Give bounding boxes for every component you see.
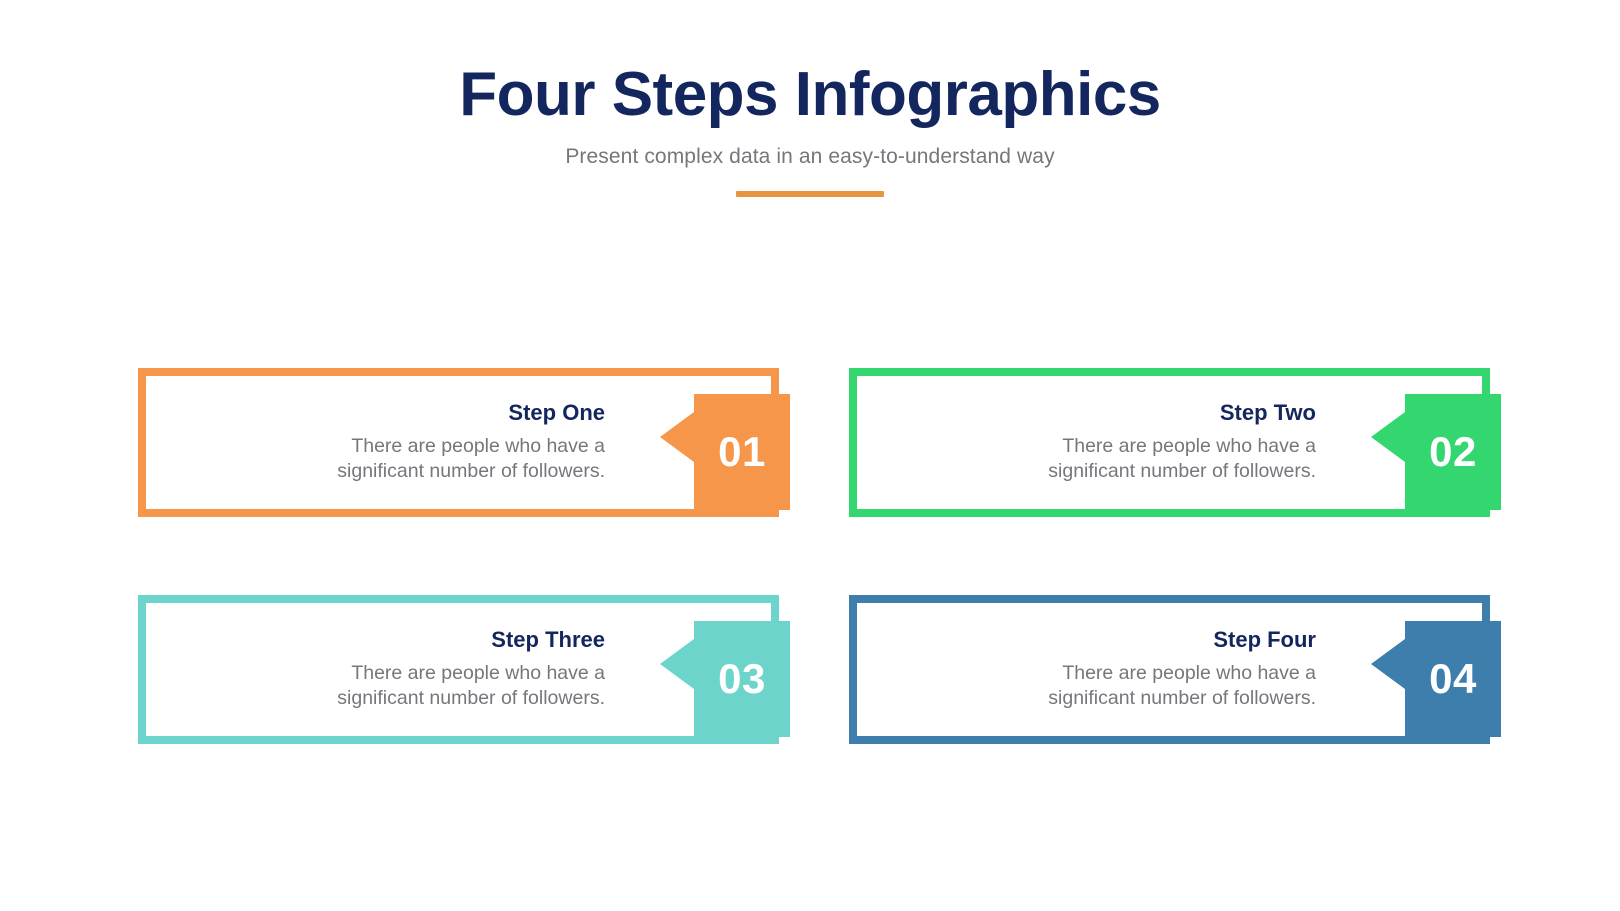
steps-row-bottom: Step Three There are people who have a s… bbox=[138, 595, 1490, 744]
step-card-1-number: 01 bbox=[718, 431, 766, 473]
steps-grid: Step One There are people who have a sig… bbox=[138, 368, 1490, 744]
step-card-3-text: Step Three There are people who have a s… bbox=[146, 603, 623, 736]
step-card-4-badge: 04 bbox=[1405, 621, 1501, 737]
divider-wrapper bbox=[0, 191, 1620, 197]
step-card-1-title: Step One bbox=[508, 400, 605, 426]
step-card-4-title: Step Four bbox=[1213, 627, 1316, 653]
title-divider bbox=[736, 191, 884, 197]
step-card-1-badge: 01 bbox=[694, 394, 790, 510]
step-card-2-number: 02 bbox=[1429, 431, 1477, 473]
step-card-1[interactable]: Step One There are people who have a sig… bbox=[138, 368, 779, 517]
step-card-4[interactable]: Step Four There are people who have a si… bbox=[849, 595, 1490, 744]
header: Four Steps Infographics Present complex … bbox=[0, 62, 1620, 197]
page-title: Four Steps Infographics bbox=[0, 62, 1620, 127]
step-card-2-badge: 02 bbox=[1405, 394, 1501, 510]
step-card-3-number: 03 bbox=[718, 658, 766, 700]
page-subtitle: Present complex data in an easy-to-under… bbox=[0, 145, 1620, 169]
step-card-2[interactable]: Step Two There are people who have a sig… bbox=[849, 368, 1490, 517]
steps-row-top: Step One There are people who have a sig… bbox=[138, 368, 1490, 517]
step-card-1-text: Step One There are people who have a sig… bbox=[146, 376, 623, 509]
step-card-4-number: 04 bbox=[1429, 658, 1477, 700]
step-card-1-description: There are people who have a significant … bbox=[260, 434, 605, 485]
step-card-4-description: There are people who have a significant … bbox=[971, 661, 1316, 712]
badge-arrow-icon bbox=[660, 412, 694, 462]
step-card-3-description: There are people who have a significant … bbox=[260, 661, 605, 712]
step-card-3[interactable]: Step Three There are people who have a s… bbox=[138, 595, 779, 744]
badge-arrow-icon bbox=[1371, 412, 1405, 462]
step-card-3-badge: 03 bbox=[694, 621, 790, 737]
step-card-4-text: Step Four There are people who have a si… bbox=[857, 603, 1334, 736]
step-card-2-title: Step Two bbox=[1220, 400, 1316, 426]
step-card-2-description: There are people who have a significant … bbox=[971, 434, 1316, 485]
badge-arrow-icon bbox=[1371, 639, 1405, 689]
step-card-2-text: Step Two There are people who have a sig… bbox=[857, 376, 1334, 509]
slide-canvas: Four Steps Infographics Present complex … bbox=[0, 0, 1620, 911]
badge-arrow-icon bbox=[660, 639, 694, 689]
step-card-3-title: Step Three bbox=[491, 627, 605, 653]
